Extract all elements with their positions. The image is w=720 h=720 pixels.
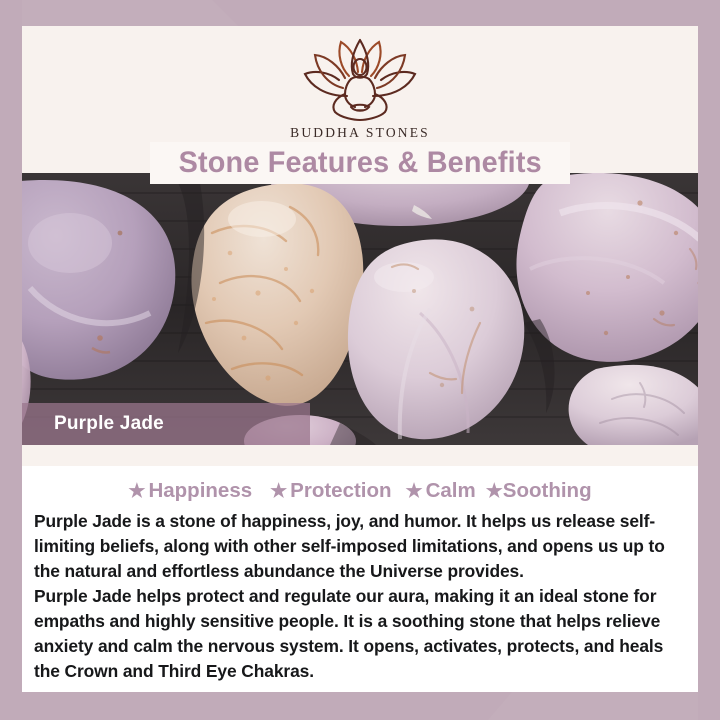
photo-caption-text: Purple Jade xyxy=(54,413,164,435)
lotus-meditation-icon xyxy=(285,34,435,122)
benefit-item-happiness: ★ Happiness xyxy=(128,479,252,503)
star-icon: ★ xyxy=(270,482,287,501)
frame-left-band xyxy=(0,0,22,720)
benefit-label: Soothing xyxy=(503,479,592,503)
star-icon: ★ xyxy=(406,482,423,501)
brand-logo: BUDDHA STONES xyxy=(22,34,698,141)
frame-top-band xyxy=(0,0,720,26)
page-title-plate: Stone Features & Benefits xyxy=(150,142,570,184)
description-paragraph-1: Purple Jade is a stone of happiness, joy… xyxy=(34,509,684,584)
photo-caption: Purple Jade xyxy=(22,403,310,445)
benefit-item-soothing: ★ Soothing xyxy=(486,479,592,503)
description-text: Purple Jade is a stone of happiness, joy… xyxy=(22,509,698,684)
star-icon: ★ xyxy=(486,482,503,501)
poster-root: BUDDHA STONES Stone Features & Benefits xyxy=(0,0,720,720)
description-panel: ★ Happiness ★ Protection ★ Calm ★ Soothi… xyxy=(22,466,698,692)
benefit-label: Calm xyxy=(426,479,476,503)
stone-photo: Purple Jade xyxy=(22,173,698,445)
benefit-item-calm: ★ Calm xyxy=(406,479,476,503)
frame-right-band xyxy=(698,0,720,720)
star-icon: ★ xyxy=(128,482,145,501)
benefit-item-protection: ★ Protection xyxy=(270,479,391,503)
content-card: BUDDHA STONES Stone Features & Benefits xyxy=(22,26,698,692)
benefits-row: ★ Happiness ★ Protection ★ Calm ★ Soothi… xyxy=(22,466,698,503)
description-paragraph-2: Purple Jade helps protect and regulate o… xyxy=(34,584,684,684)
page-title: Stone Features & Benefits xyxy=(178,146,541,180)
frame-bottom-band xyxy=(0,692,720,720)
benefit-label: Protection xyxy=(290,479,391,503)
header: BUDDHA STONES Stone Features & Benefits xyxy=(22,26,698,173)
benefit-label: Happiness xyxy=(148,479,252,503)
brand-name: BUDDHA STONES xyxy=(290,125,430,141)
